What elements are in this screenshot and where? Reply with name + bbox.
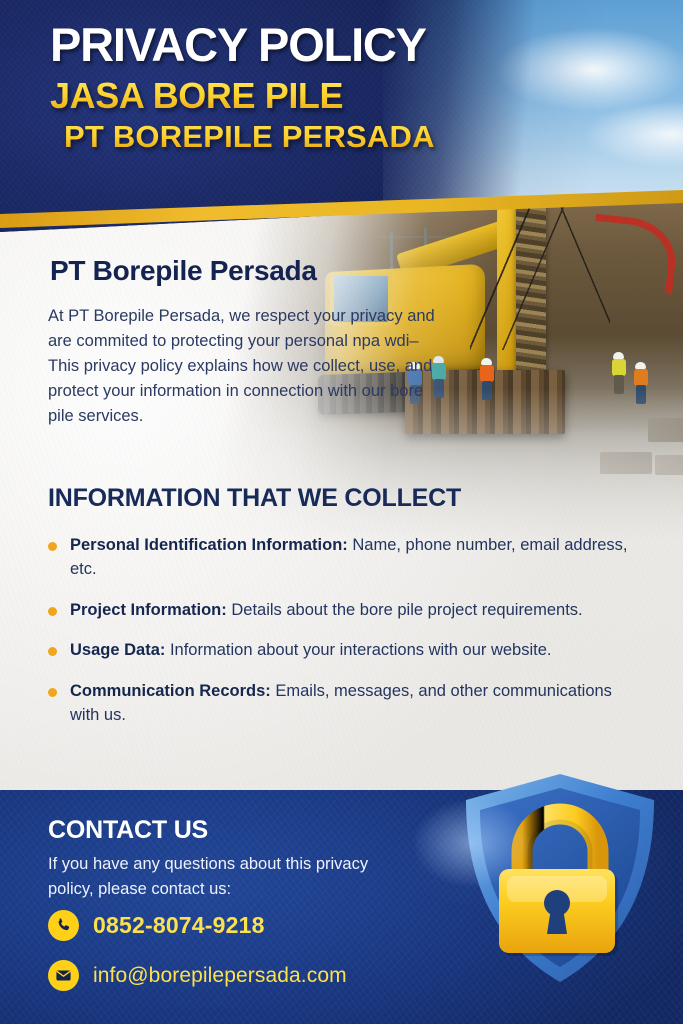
list-item: Project Information: Details about the b… xyxy=(44,599,634,623)
bullet-dot-icon xyxy=(48,542,57,551)
list-item-term: Communication Records: xyxy=(70,682,271,700)
title-block: PRIVACY POLICY JASA BORE PILE PT BOREPIL… xyxy=(50,22,435,152)
information-collected-list: Personal Identification Information: Nam… xyxy=(44,534,634,745)
list-item-term: Personal Identification Information: xyxy=(70,536,348,554)
list-item-term: Project Information: xyxy=(70,601,227,619)
bullet-dot-icon xyxy=(48,607,57,616)
contact-email-value: info@borepilepersada.com xyxy=(93,964,347,988)
contact-phone-value: 0852-8074-9218 xyxy=(93,912,265,939)
phone-icon xyxy=(48,910,79,941)
title-subtitle-service: JASA BORE PILE xyxy=(50,78,435,114)
envelope-icon xyxy=(48,960,79,991)
intro-heading: PT Borepile Persada xyxy=(50,255,317,287)
list-item-desc: Details about the bore pile project requ… xyxy=(227,601,583,619)
photo-concrete-block xyxy=(655,455,683,475)
bullet-dot-icon xyxy=(48,647,57,656)
contact-phone-row[interactable]: 0852-8074-9218 xyxy=(48,910,265,941)
list-item-term: Usage Data: xyxy=(70,641,165,659)
privacy-policy-poster: PRIVACY POLICY JASA BORE PILE PT BOREPIL… xyxy=(0,0,683,1024)
contact-paragraph: If you have any questions about this pri… xyxy=(48,852,398,902)
list-item: Personal Identification Information: Nam… xyxy=(44,534,634,582)
section-heading-information-collected: INFORMATION THAT WE COLLECT xyxy=(48,484,461,513)
photo-concrete-block xyxy=(648,418,683,442)
photo-concrete-block xyxy=(600,452,652,474)
contact-email-row[interactable]: info@borepilepersada.com xyxy=(48,960,347,991)
list-item: Communication Records: Emails, messages,… xyxy=(44,680,634,728)
list-item: Usage Data: Information about your inter… xyxy=(44,639,634,663)
list-item-desc: Information about your interactions with… xyxy=(165,641,551,659)
shield-padlock-icon xyxy=(452,768,668,998)
page-title: PRIVACY POLICY xyxy=(50,22,435,68)
title-subtitle-company: PT BOREPILE PERSADA xyxy=(64,121,435,152)
bullet-dot-icon xyxy=(48,688,57,697)
contact-heading: CONTACT US xyxy=(48,816,208,845)
intro-paragraph: At PT Borepile Persada, we respect your … xyxy=(48,304,448,429)
